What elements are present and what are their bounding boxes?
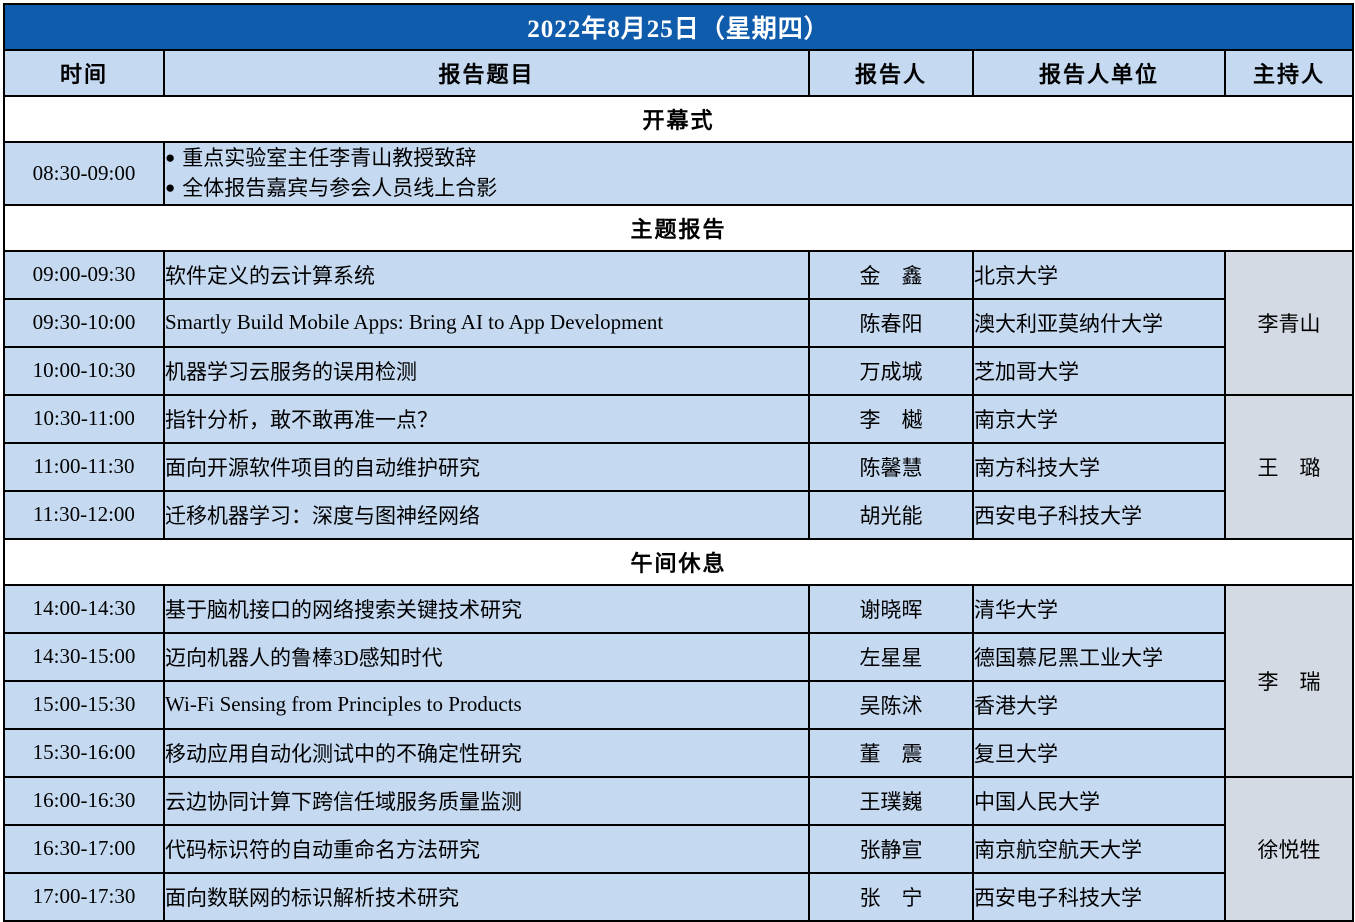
- talk-affiliation: 北京大学: [973, 251, 1225, 299]
- talk-affiliation: 南京大学: [973, 395, 1225, 443]
- talk-time: 15:30-16:00: [4, 729, 164, 777]
- column-header-affiliation: 报告人单位: [973, 50, 1225, 96]
- opening-ceremony-row: 08:30-09:00●重点实验室主任李青山教授致辞●全体报告嘉宾与参会人员线上…: [4, 142, 1353, 205]
- talk-title: 基于脑机接口的网络搜索关键技术研究: [164, 585, 809, 633]
- section-opening-label: 开幕式: [4, 96, 1353, 142]
- opening-bullet-item: ●重点实验室主任李青山教授致辞: [165, 143, 1352, 173]
- talk-time: 09:00-09:30: [4, 251, 164, 299]
- talk-row: 11:00-11:30面向开源软件项目的自动维护研究陈馨慧南方科技大学: [4, 443, 1353, 491]
- opening-bullet-text: 全体报告嘉宾与参会人员线上合影: [182, 176, 497, 200]
- talk-speaker: 金 鑫: [809, 251, 973, 299]
- talk-speaker: 吴陈沭: [809, 681, 973, 729]
- talk-affiliation: 南京航空航天大学: [973, 825, 1225, 873]
- section-lunch-row: 午间休息: [4, 539, 1353, 585]
- talk-affiliation: 清华大学: [973, 585, 1225, 633]
- day-banner-row: 2022年8月25日（星期四）: [4, 4, 1353, 50]
- section-keynote-label: 主题报告: [4, 205, 1353, 251]
- talk-title: 云边协同计算下跨信任域服务质量监测: [164, 777, 809, 825]
- opening-items: ●重点实验室主任李青山教授致辞●全体报告嘉宾与参会人员线上合影: [164, 142, 1353, 205]
- talk-row: 14:00-14:30基于脑机接口的网络搜索关键技术研究谢晓晖清华大学李 瑞: [4, 585, 1353, 633]
- talk-row: 11:30-12:00迁移机器学习：深度与图神经网络胡光能西安电子科技大学: [4, 491, 1353, 539]
- talk-time: 14:00-14:30: [4, 585, 164, 633]
- talk-title: 面向开源软件项目的自动维护研究: [164, 443, 809, 491]
- talk-title: 软件定义的云计算系统: [164, 251, 809, 299]
- talk-title: 迈向机器人的鲁棒3D感知时代: [164, 633, 809, 681]
- talk-row: 16:00-16:30云边协同计算下跨信任域服务质量监测王璞巍中国人民大学徐悦牲: [4, 777, 1353, 825]
- talk-affiliation: 德国慕尼黑工业大学: [973, 633, 1225, 681]
- talk-title: 机器学习云服务的误用检测: [164, 347, 809, 395]
- session-chair: 王 璐: [1225, 395, 1353, 539]
- talk-title: 移动应用自动化测试中的不确定性研究: [164, 729, 809, 777]
- column-header-title: 报告题目: [164, 50, 809, 96]
- opening-time: 08:30-09:00: [4, 142, 164, 205]
- talk-title: Smartly Build Mobile Apps: Bring AI to A…: [164, 299, 809, 347]
- talk-time: 09:30-10:00: [4, 299, 164, 347]
- talk-time: 16:00-16:30: [4, 777, 164, 825]
- talk-row: 15:30-16:00移动应用自动化测试中的不确定性研究董 震复旦大学: [4, 729, 1353, 777]
- talk-affiliation: 复旦大学: [973, 729, 1225, 777]
- talk-time: 11:30-12:00: [4, 491, 164, 539]
- talk-speaker: 董 震: [809, 729, 973, 777]
- talk-title: Wi-Fi Sensing from Principles to Product…: [164, 681, 809, 729]
- talk-title: 代码标识符的自动重命名方法研究: [164, 825, 809, 873]
- talk-time: 11:00-11:30: [4, 443, 164, 491]
- talk-row: 09:00-09:30软件定义的云计算系统金 鑫北京大学李青山: [4, 251, 1353, 299]
- talk-row: 14:30-15:00迈向机器人的鲁棒3D感知时代左星星德国慕尼黑工业大学: [4, 633, 1353, 681]
- talk-row: 10:00-10:30机器学习云服务的误用检测万成城芝加哥大学: [4, 347, 1353, 395]
- session-chair: 徐悦牲: [1225, 777, 1353, 921]
- talk-time: 16:30-17:00: [4, 825, 164, 873]
- bullet-icon: ●: [165, 148, 182, 167]
- talk-row: 10:30-11:00指针分析，敢不敢再准一点？李 樾南京大学王 璐: [4, 395, 1353, 443]
- talk-speaker: 胡光能: [809, 491, 973, 539]
- opening-bullet-text: 重点实验室主任李青山教授致辞: [182, 146, 476, 170]
- talk-speaker: 张静宣: [809, 825, 973, 873]
- talk-row: 16:30-17:00代码标识符的自动重命名方法研究张静宣南京航空航天大学: [4, 825, 1353, 873]
- bullet-icon: ●: [165, 178, 182, 197]
- conference-schedule-table: 2022年8月25日（星期四）时间报告题目报告人报告人单位主持人开幕式08:30…: [3, 3, 1354, 922]
- talk-speaker: 陈馨慧: [809, 443, 973, 491]
- talk-speaker: 左星星: [809, 633, 973, 681]
- session-chair: 李 瑞: [1225, 585, 1353, 777]
- talk-speaker: 李 樾: [809, 395, 973, 443]
- column-header-row: 时间报告题目报告人报告人单位主持人: [4, 50, 1353, 96]
- talk-speaker: 万成城: [809, 347, 973, 395]
- section-lunch-label: 午间休息: [4, 539, 1353, 585]
- talk-affiliation: 芝加哥大学: [973, 347, 1225, 395]
- talk-speaker: 王璞巍: [809, 777, 973, 825]
- talk-row: 09:30-10:00Smartly Build Mobile Apps: Br…: [4, 299, 1353, 347]
- talk-time: 14:30-15:00: [4, 633, 164, 681]
- talk-affiliation: 澳大利亚莫纳什大学: [973, 299, 1225, 347]
- column-header-speaker: 报告人: [809, 50, 973, 96]
- talk-row: 15:00-15:30Wi-Fi Sensing from Principles…: [4, 681, 1353, 729]
- section-opening-row: 开幕式: [4, 96, 1353, 142]
- talk-affiliation: 香港大学: [973, 681, 1225, 729]
- section-keynote-row: 主题报告: [4, 205, 1353, 251]
- talk-time: 15:00-15:30: [4, 681, 164, 729]
- column-header-time: 时间: [4, 50, 164, 96]
- day-banner: 2022年8月25日（星期四）: [4, 4, 1353, 50]
- talk-title: 指针分析，敢不敢再准一点？: [164, 395, 809, 443]
- column-header-chair: 主持人: [1225, 50, 1353, 96]
- session-chair: 李青山: [1225, 251, 1353, 395]
- talk-affiliation: 中国人民大学: [973, 777, 1225, 825]
- talk-speaker: 陈春阳: [809, 299, 973, 347]
- opening-bullet-item: ●全体报告嘉宾与参会人员线上合影: [165, 173, 1352, 203]
- talk-time: 10:00-10:30: [4, 347, 164, 395]
- talk-time: 10:30-11:00: [4, 395, 164, 443]
- talk-affiliation: 西安电子科技大学: [973, 491, 1225, 539]
- talk-speaker: 谢晓晖: [809, 585, 973, 633]
- talk-affiliation: 南方科技大学: [973, 443, 1225, 491]
- talk-title: 迁移机器学习：深度与图神经网络: [164, 491, 809, 539]
